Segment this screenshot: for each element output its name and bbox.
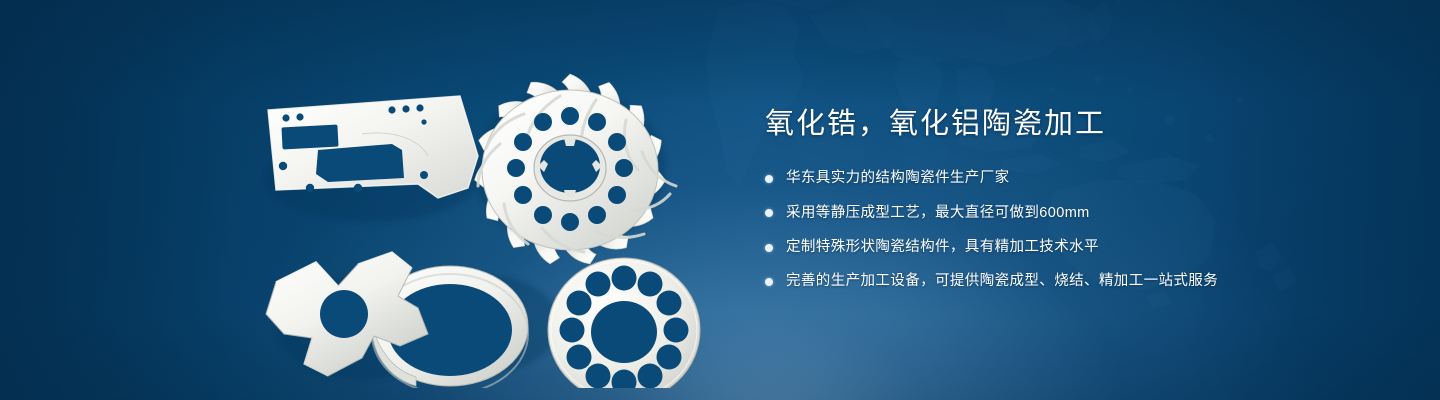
bullet-dot-icon (765, 175, 773, 183)
banner-copy: 氧化锆，氧化铝陶瓷加工 华东具实力的结构陶瓷件生产厂家 采用等静压成型工艺，最大… (765, 106, 1385, 305)
bullet-dot-icon (765, 209, 773, 217)
list-item: 完善的生产加工设备，可提供陶瓷成型、烧结、精加工一站式服务 (765, 271, 1385, 293)
list-item: 华东具实力的结构陶瓷件生产厂家 (765, 168, 1385, 190)
feature-text: 完善的生产加工设备，可提供陶瓷成型、烧结、精加工一站式服务 (786, 271, 1218, 293)
ceramic-impeller-part (472, 73, 676, 268)
feature-text: 定制特殊形状陶瓷结构件，具有精加工技术水平 (786, 237, 1099, 259)
page-title: 氧化锆，氧化铝陶瓷加工 (765, 106, 1385, 142)
ceramic-plate-part (268, 96, 478, 198)
feature-text: 华东具实力的结构陶瓷件生产厂家 (786, 168, 1010, 190)
promo-banner: 氧化锆，氧化铝陶瓷加工 华东具实力的结构陶瓷件生产厂家 采用等静压成型工艺，最大… (0, 0, 1440, 400)
list-item: 采用等静压成型工艺，最大直径可做到600mm (765, 203, 1385, 225)
list-item: 定制特殊形状陶瓷结构件，具有精加工技术水平 (765, 237, 1385, 259)
bullet-dot-icon (765, 244, 773, 252)
feature-text: 采用等静压成型工艺，最大直径可做到600mm (786, 203, 1090, 225)
ceramic-holed-disc-part (548, 258, 700, 388)
ceramic-products-image (232, 38, 712, 388)
feature-list: 华东具实力的结构陶瓷件生产厂家 采用等静压成型工艺，最大直径可做到600mm 定… (765, 168, 1385, 293)
bullet-dot-icon (765, 278, 773, 286)
